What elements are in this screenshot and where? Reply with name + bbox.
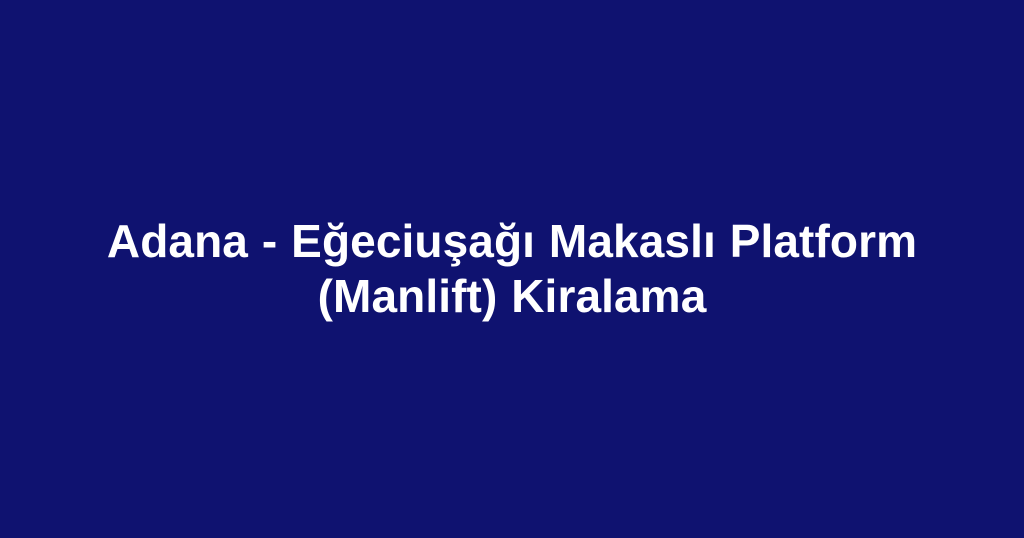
page-title-line-2: (Manlift) Kiralama	[106, 269, 918, 324]
page-title: Adana - Eğeciuşağı Makaslı Platform (Man…	[106, 214, 918, 324]
headline-block: Adana - Eğeciuşağı Makaslı Platform (Man…	[82, 214, 942, 324]
og-preview-card: Adana - Eğeciuşağı Makaslı Platform (Man…	[0, 0, 1024, 538]
page-title-line-1: Adana - Eğeciuşağı Makaslı Platform	[106, 214, 918, 269]
